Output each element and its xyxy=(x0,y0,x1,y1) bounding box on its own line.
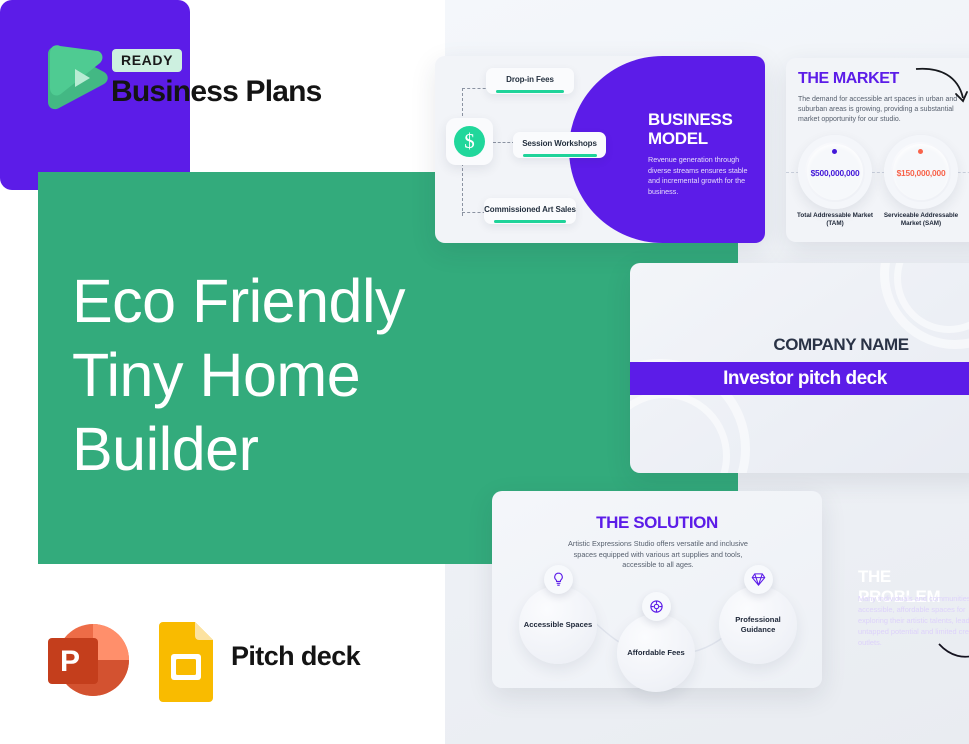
flow-card-label: Session Workshops xyxy=(513,139,606,148)
market-value-sam: $150,000,000 xyxy=(876,168,966,178)
target-circle-icon xyxy=(642,592,671,621)
solution-node-label: Accessible Spaces xyxy=(524,620,592,631)
flow-card-session-workshops[interactable]: Session Workshops xyxy=(513,132,606,158)
investor-pitch-deck-bar: Investor pitch deck xyxy=(630,362,969,395)
investor-pitch-deck-label: Investor pitch deck xyxy=(630,368,969,390)
solution-title: THE SOLUTION xyxy=(492,513,822,533)
diamond-icon xyxy=(744,565,773,594)
market-caption-sam: Serviceable Addressable Market (SAM) xyxy=(875,212,967,229)
market-title: THE MARKET xyxy=(798,70,899,88)
market-caption-tam: Total Addressable Market (TAM) xyxy=(789,212,881,229)
solution-node-accessible-spaces[interactable]: Accessible Spaces xyxy=(519,586,597,664)
hero-title-line-1: Eco Friendly xyxy=(72,264,492,338)
dollar-sign-icon: $ xyxy=(454,126,485,157)
flow-card-underline xyxy=(523,154,597,157)
flow-card-underline xyxy=(496,90,564,93)
flow-card-label: Drop-in Fees xyxy=(486,75,574,84)
brand-name: Business Plans xyxy=(111,75,322,109)
microsoft-powerpoint-icon: P xyxy=(42,618,130,702)
hero-title-line-3: Builder xyxy=(72,412,492,486)
flow-card-commissioned-art-sales[interactable]: Commissioned Art Sales xyxy=(484,198,576,224)
business-model-title-line-2: MODEL xyxy=(648,129,758,148)
solution-node-label: Affordable Fees xyxy=(627,648,684,659)
solution-description: Artistic Expressions Studio offers versa… xyxy=(560,539,756,571)
market-value-tam: $500,000,000 xyxy=(790,168,880,178)
pitch-deck-label: Pitch deck xyxy=(231,641,360,672)
promo-banner: Eco Friendly Tiny Home Builder READY Bus… xyxy=(0,0,969,744)
company-name-heading: COMPANY NAME xyxy=(741,335,941,355)
page-title: Eco Friendly Tiny Home Builder xyxy=(72,264,492,486)
problem-curved-arrow-icon xyxy=(938,640,969,666)
flow-card-underline xyxy=(494,220,566,223)
flow-card-label: Commissioned Art Sales xyxy=(484,205,576,214)
solution-node-affordable-fees[interactable]: Affordable Fees xyxy=(617,614,695,692)
market-dot-sam xyxy=(918,149,923,154)
market-dot-tam xyxy=(832,149,837,154)
curved-arrow-icon xyxy=(914,66,969,108)
hero-title-line-2: Tiny Home xyxy=(72,338,492,412)
solution-node-label: Professional Guidance xyxy=(719,615,797,636)
ready-badge: READY xyxy=(112,49,182,72)
business-model-description: Revenue generation through diverse strea… xyxy=(648,155,758,197)
business-model-title: BUSINESS MODEL xyxy=(648,110,758,148)
flow-card-drop-in-fees[interactable]: Drop-in Fees xyxy=(486,68,574,94)
lightbulb-icon xyxy=(544,565,573,594)
business-model-title-line-1: BUSINESS xyxy=(648,110,758,129)
business-model-money-tile: $ xyxy=(446,118,493,165)
google-slides-icon xyxy=(155,618,217,702)
play-triangle-logo-icon xyxy=(38,36,112,114)
flow-connector-mid xyxy=(493,142,515,143)
svg-text:P: P xyxy=(60,645,80,678)
solution-node-professional-guidance[interactable]: Professional Guidance xyxy=(719,586,797,664)
